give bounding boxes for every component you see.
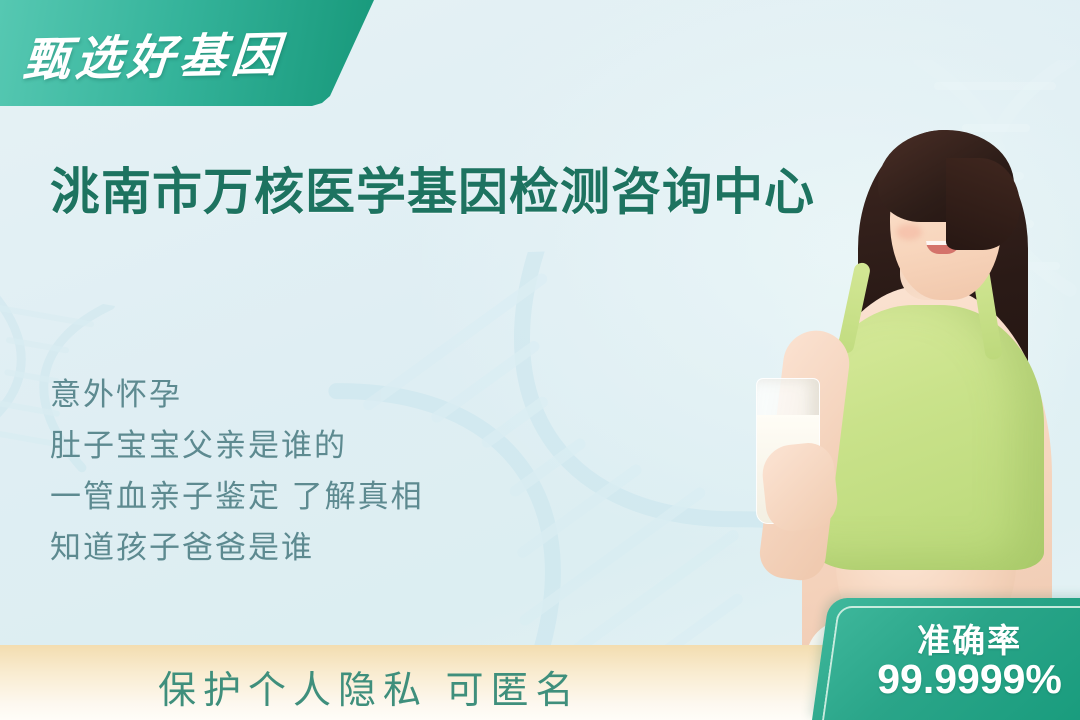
- copy-line: 一管血亲子鉴定 了解真相: [50, 471, 424, 522]
- model-cheek-left: [896, 224, 922, 240]
- banner-canvas: 甄选好基因 洮南市万核医学基因检测咨询中心 意外怀孕 肚子宝宝父亲是谁的 一管血…: [0, 0, 1080, 720]
- brand-ribbon: 甄选好基因: [0, 0, 374, 106]
- privacy-statement: 保护个人隐私 可匿名: [158, 659, 581, 714]
- accuracy-badge: 准确率 99.9999%: [812, 598, 1080, 720]
- copy-line: 肚子宝宝父亲是谁的: [50, 420, 424, 471]
- badge-content: 准确率 99.9999%: [821, 598, 1080, 720]
- accuracy-value: 99.9999%: [855, 656, 1080, 703]
- accuracy-label: 准确率: [865, 614, 1075, 662]
- marketing-copy: 意外怀孕 肚子宝宝父亲是谁的 一管血亲子鉴定 了解真相 知道孩子爸爸是谁: [50, 369, 424, 573]
- copy-line: 意外怀孕: [50, 369, 424, 420]
- model-hand: [760, 440, 841, 533]
- copy-line: 知道孩子爸爸是谁: [50, 522, 424, 573]
- page-title: 洮南市万核医学基因检测咨询中心: [50, 152, 815, 224]
- brand-slogan: 甄选好基因: [21, 15, 327, 90]
